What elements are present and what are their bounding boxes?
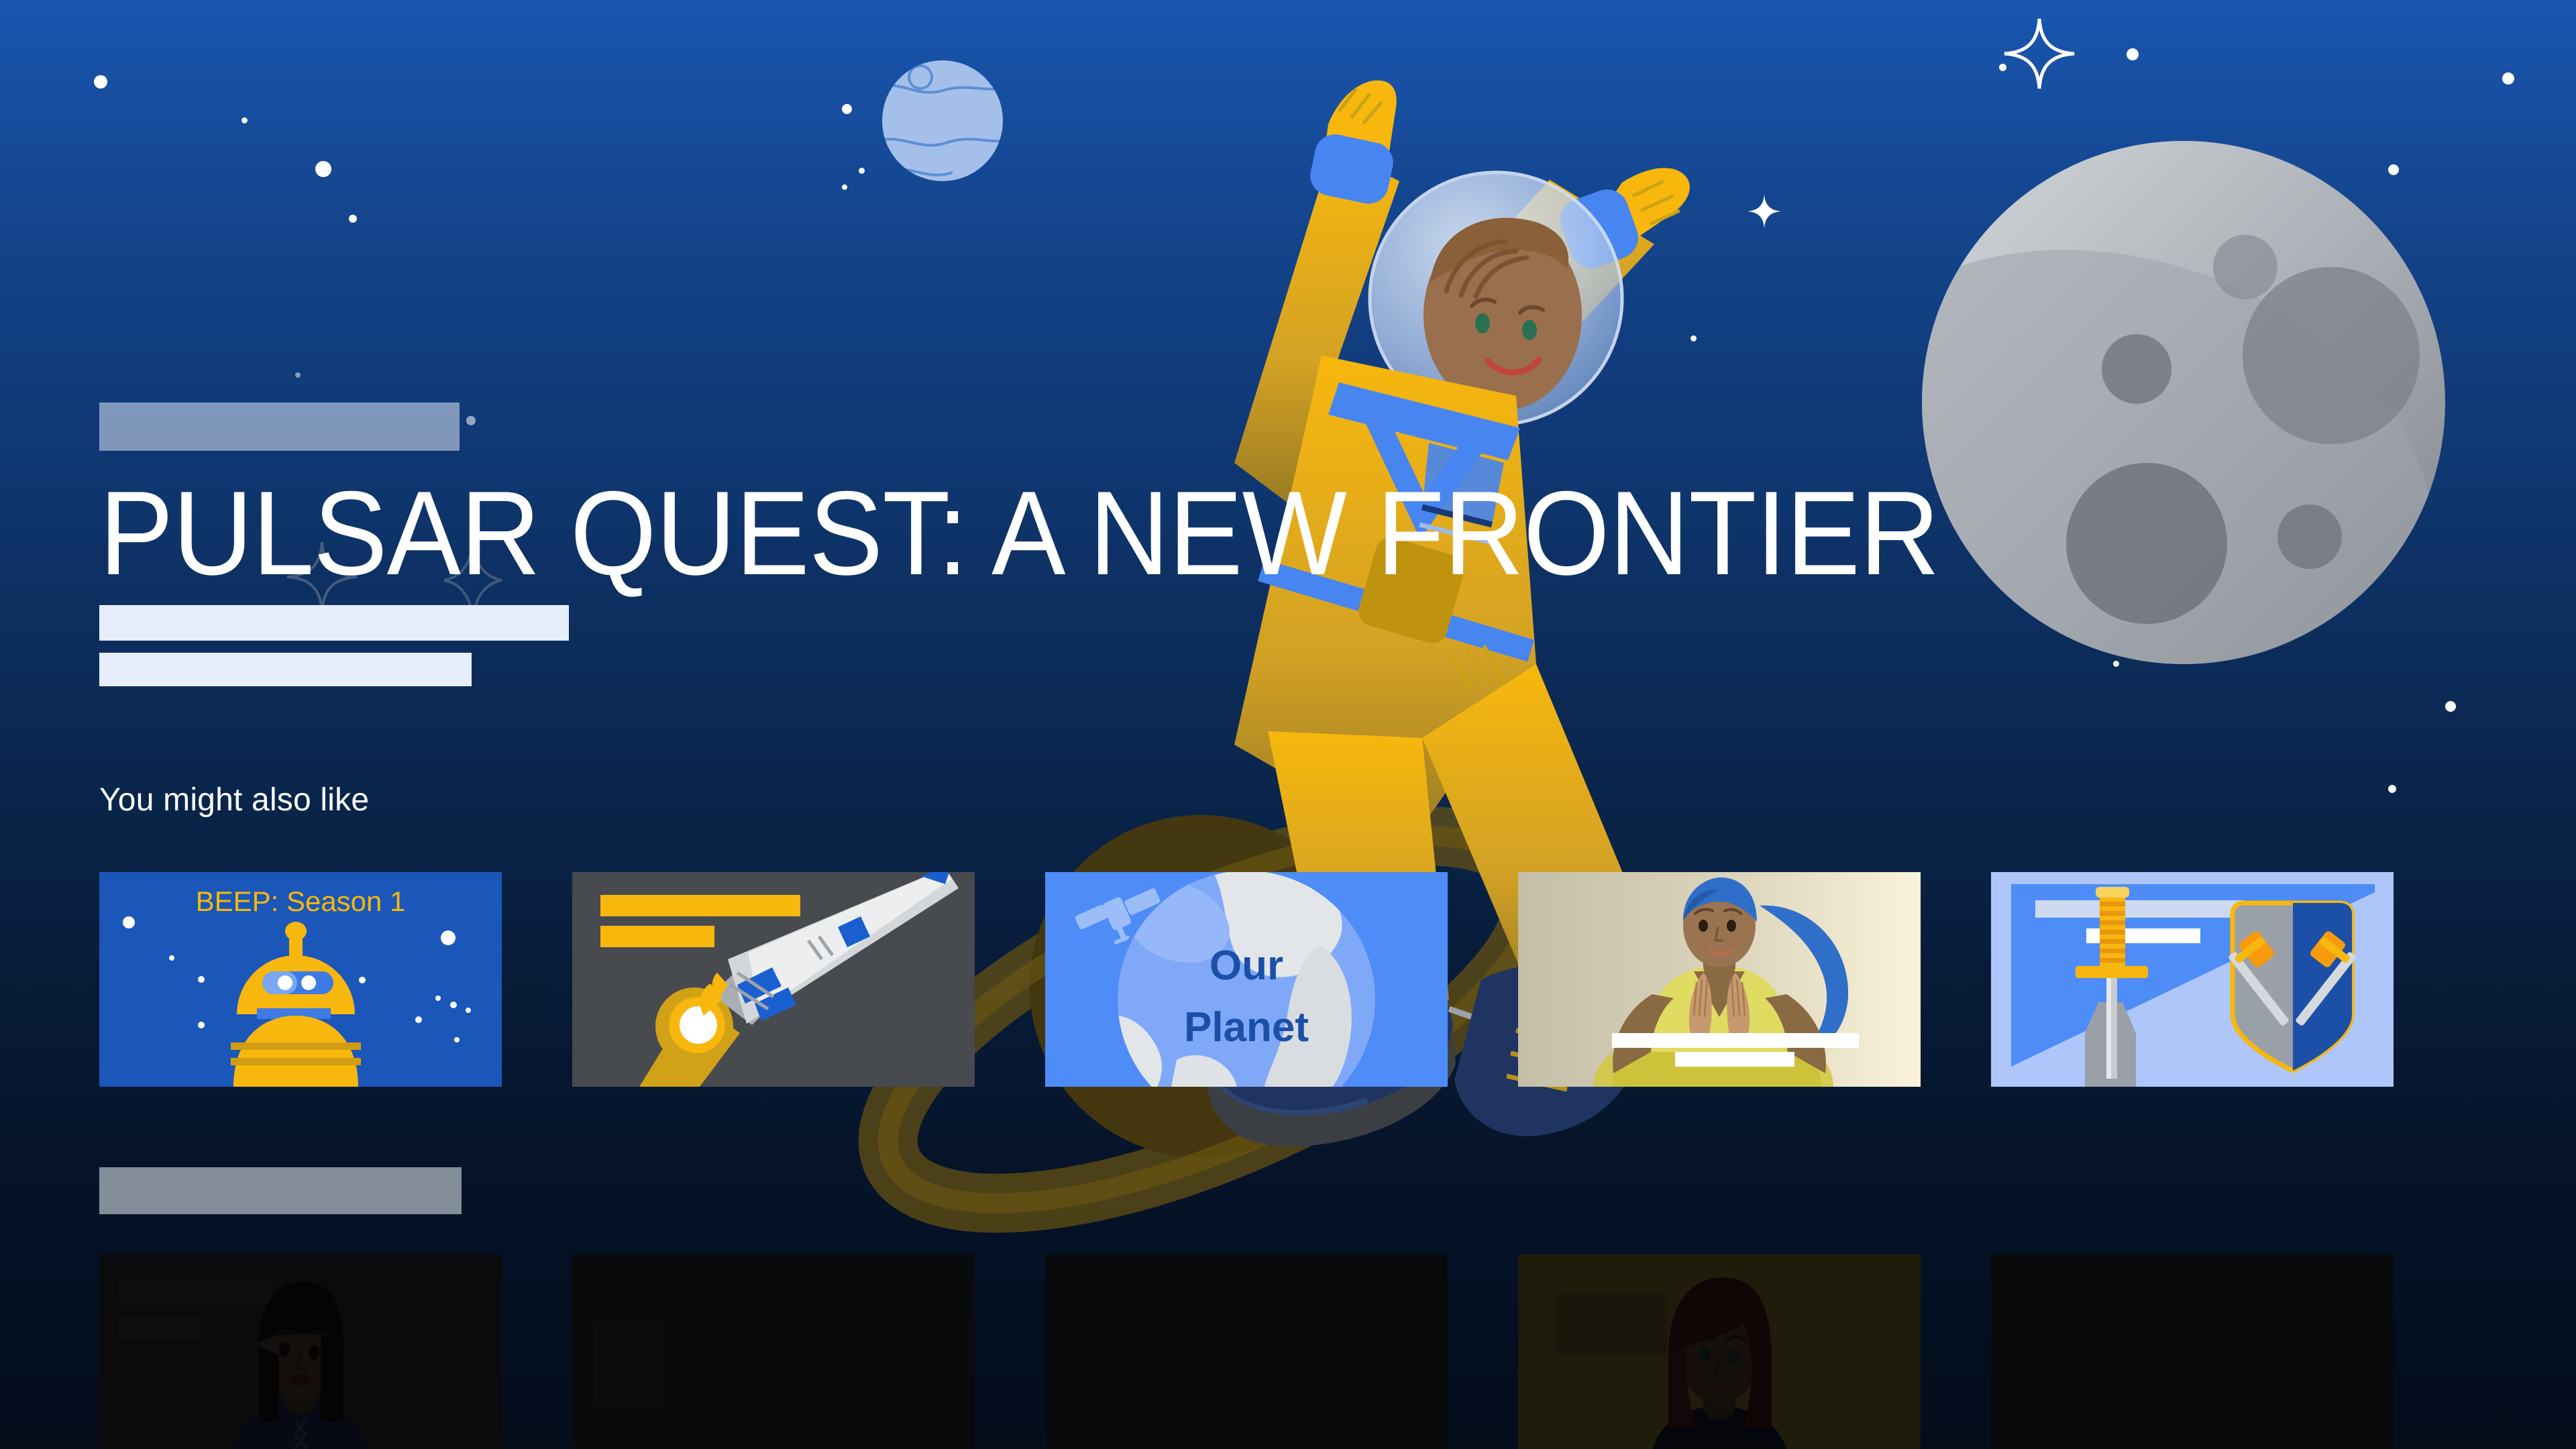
blank-artwork-3 xyxy=(1045,1254,1448,1449)
hero-placeholder-line-2 xyxy=(99,653,472,686)
portrait-a-artwork xyxy=(99,1254,502,1449)
page-title: PULSAR QUEST: A NEW FRONTIER xyxy=(99,474,1909,593)
card-rocket-launch[interactable] xyxy=(572,872,975,1087)
card-sword-and-shield[interactable] xyxy=(1991,872,2394,1087)
card-portrait-red-hair[interactable] xyxy=(1518,1254,1921,1449)
card-placeholder-line-2 xyxy=(1675,1052,1794,1067)
blank-artwork-5 xyxy=(1991,1254,2394,1449)
card-portrait-dark-hair[interactable] xyxy=(99,1254,502,1449)
card-our-planet[interactable]: Our Planet xyxy=(1045,872,1448,1087)
hero-placeholder-line-1 xyxy=(99,605,569,641)
recommendations-row-2 xyxy=(99,1254,2394,1449)
globe-artwork: Our Planet xyxy=(1045,872,1448,1087)
card-title-planet: Planet xyxy=(1184,1004,1309,1051)
card-title-beep: BEEP: Season 1 xyxy=(196,885,406,917)
card-placeholder-line-1 xyxy=(1612,1033,1859,1048)
hero-text-block: PULSAR QUEST: A NEW FRONTIER xyxy=(99,402,2045,686)
row-2-heading-placeholder xyxy=(99,1167,462,1214)
hero-screen: PULSAR QUEST: A NEW FRONTIER You might a… xyxy=(0,0,2576,1449)
sparkle-star-icon xyxy=(1999,13,2080,94)
blank-artwork-2 xyxy=(572,1254,975,1449)
card-title-our: Our xyxy=(1210,943,1283,989)
meditation-artwork xyxy=(1518,872,1921,1087)
hero-placeholder-top xyxy=(99,402,460,451)
card-placeholder-5[interactable] xyxy=(1991,1254,2394,1449)
card-placeholder-3[interactable] xyxy=(1045,1254,1448,1449)
sword-shield-artwork xyxy=(1991,872,2394,1087)
row-1-heading: You might also like xyxy=(99,782,369,818)
card-placeholder-2[interactable] xyxy=(572,1254,975,1449)
card-meditation[interactable] xyxy=(1518,872,1921,1087)
card-beep-season-1[interactable]: BEEP: Season 1 xyxy=(99,872,502,1087)
portrait-b-artwork xyxy=(1518,1254,1921,1449)
recommendations-row-1: BEEP: Season 1 xyxy=(99,872,2394,1087)
robot-artwork: BEEP: Season 1 xyxy=(99,872,502,1087)
rocket-artwork xyxy=(572,872,975,1087)
